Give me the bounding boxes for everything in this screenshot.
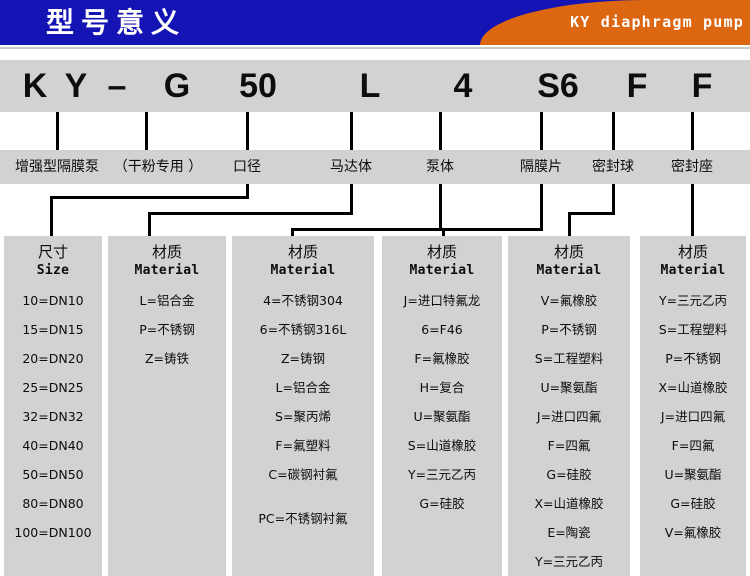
column-item: 100=DN100 <box>4 525 102 540</box>
column-item: P=不锈钢 <box>108 322 226 337</box>
column-item: U=聚氨酯 <box>508 380 630 395</box>
column-heading-cn: 材质 <box>508 243 630 262</box>
column-item: J=进口特氟龙 <box>382 293 502 308</box>
column-item: P=不锈钢 <box>508 322 630 337</box>
column-item: 20=DN20 <box>4 351 102 366</box>
column-heading-cn: 材质 <box>108 243 226 262</box>
column-item: J=进口四氟 <box>640 409 746 424</box>
column-heading-cn: 材质 <box>640 243 746 262</box>
model-part-label: 隔膜片 <box>520 150 562 184</box>
connector-vertical <box>691 184 694 236</box>
column-item-list: J=进口特氟龙6=F46F=氟橡胶H=复合U=聚氨酯S=山道橡胶Y=三元乙丙G=… <box>382 293 502 511</box>
model-code-token: S6 <box>537 62 579 110</box>
model-part-label: 密封球 <box>592 150 634 184</box>
column-item: S=聚丙烯 <box>232 409 374 424</box>
model-code-token: 4 <box>454 62 473 110</box>
column-item: S=山道橡胶 <box>382 438 502 453</box>
column-item: S=工程塑料 <box>508 351 630 366</box>
column-item: PC=不锈钢衬氟 <box>232 511 374 526</box>
header-divider <box>0 47 750 49</box>
model-part-label: 增强型隔膜泵 <box>15 150 99 184</box>
connector-vertical <box>439 184 442 231</box>
column-heading-en: Material <box>640 262 746 279</box>
connector-horizontal <box>291 228 442 231</box>
connector-vertical <box>145 112 148 150</box>
column-item: Z=铸钢 <box>232 351 374 366</box>
connector-vertical <box>612 112 615 150</box>
column-item: L=铝合金 <box>232 380 374 395</box>
detail-column-size: 尺寸Size10=DN1015=DN1520=DN2025=DN2532=DN3… <box>4 236 102 576</box>
connector-horizontal <box>442 228 543 231</box>
column-item: 25=DN25 <box>4 380 102 395</box>
column-item: Y=三元乙丙 <box>640 293 746 308</box>
page-header: 型号意义 KY diaphragm pump <box>0 0 750 45</box>
column-item: 6=F46 <box>382 322 502 337</box>
connector-vertical <box>691 112 694 150</box>
connector-vertical <box>56 112 59 150</box>
connector-vertical <box>568 212 571 236</box>
column-heading-en: Material <box>232 262 374 279</box>
column-heading-cn: 尺寸 <box>4 243 102 262</box>
column-item: 40=DN40 <box>4 438 102 453</box>
column-item: Y=三元乙丙 <box>508 554 630 569</box>
model-part-label-row: 增强型隔膜泵（干粉专用 ）口径马达体泵体隔膜片密封球密封座 <box>0 150 750 184</box>
page-title: 型号意义 <box>46 5 186 41</box>
column-item: 32=DN32 <box>4 409 102 424</box>
column-item: Z=铸铁 <box>108 351 226 366</box>
model-code-token: F <box>627 62 648 110</box>
column-item: F=四氟 <box>640 438 746 453</box>
connector-vertical <box>612 184 615 215</box>
column-item: J=进口四氟 <box>508 409 630 424</box>
detail-column-seal-ball-material: 材质MaterialV=氟橡胶P=不锈钢S=工程塑料U=聚氨酯J=进口四氟F=四… <box>508 236 630 576</box>
connector-vertical <box>50 196 53 236</box>
column-item-list: V=氟橡胶P=不锈钢S=工程塑料U=聚氨酯J=进口四氟F=四氟G=硅胶X=山道橡… <box>508 293 630 569</box>
column-item: X=山道橡胶 <box>640 380 746 395</box>
connector-horizontal <box>568 212 615 215</box>
model-code-token: – <box>108 62 127 110</box>
column-item: 10=DN10 <box>4 293 102 308</box>
connector-vertical <box>540 184 543 231</box>
column-item: P=不锈钢 <box>640 351 746 366</box>
detail-column-diaphragm-material: 材质MaterialJ=进口特氟龙6=F46F=氟橡胶H=复合U=聚氨酯S=山道… <box>382 236 502 576</box>
column-item-list: L=铝合金P=不锈钢Z=铸铁 <box>108 293 226 366</box>
detail-column-motor-material: 材质MaterialL=铝合金P=不锈钢Z=铸铁 <box>108 236 226 576</box>
connector-horizontal <box>50 196 249 199</box>
column-item: H=复合 <box>382 380 502 395</box>
column-item: F=四氟 <box>508 438 630 453</box>
column-item: X=山道橡胶 <box>508 496 630 511</box>
column-item: 80=DN80 <box>4 496 102 511</box>
column-heading-en: Material <box>508 262 630 279</box>
column-item: 50=DN50 <box>4 467 102 482</box>
model-part-label: 口径 <box>233 150 261 184</box>
model-code-token: 50 <box>239 62 277 110</box>
model-part-label: （干粉专用 ） <box>114 150 202 184</box>
column-heading-cn: 材质 <box>382 243 502 262</box>
column-item: S=工程塑料 <box>640 322 746 337</box>
model-part-label: 密封座 <box>671 150 713 184</box>
column-item: C=碳钢衬氟 <box>232 467 374 482</box>
column-item: 15=DN15 <box>4 322 102 337</box>
column-item: 6=不锈钢316L <box>232 322 374 337</box>
connector-vertical <box>442 228 445 236</box>
column-item: F=氟塑料 <box>232 438 374 453</box>
connector-vertical <box>246 112 249 150</box>
connector-vertical <box>148 212 151 236</box>
connector-horizontal <box>148 212 353 215</box>
column-item: U=聚氨酯 <box>382 409 502 424</box>
detail-column-pump-body-material: 材质Material4=不锈钢3046=不锈钢316LZ=铸钢L=铝合金S=聚丙… <box>232 236 374 576</box>
column-item-list: Y=三元乙丙S=工程塑料P=不锈钢X=山道橡胶J=进口四氟F=四氟U=聚氨酯G=… <box>640 293 746 540</box>
column-item: Y=三元乙丙 <box>382 467 502 482</box>
model-code-token: G <box>164 62 190 110</box>
detail-column-seal-seat-material: 材质MaterialY=三元乙丙S=工程塑料P=不锈钢X=山道橡胶J=进口四氟F… <box>640 236 746 576</box>
column-item: G=硅胶 <box>382 496 502 511</box>
column-item: E=陶瓷 <box>508 525 630 540</box>
model-part-label: 泵体 <box>426 150 454 184</box>
column-item: F=氟橡胶 <box>382 351 502 366</box>
model-code-token: K <box>23 62 48 110</box>
model-part-label: 马达体 <box>330 150 372 184</box>
column-heading-cn: 材质 <box>232 243 374 262</box>
connector-vertical <box>439 112 442 150</box>
column-heading-en: Size <box>4 262 102 279</box>
connector-vertical <box>350 112 353 150</box>
connector-vertical <box>540 112 543 150</box>
column-item-list: 4=不锈钢3046=不锈钢316LZ=铸钢L=铝合金S=聚丙烯F=氟塑料C=碳钢… <box>232 293 374 526</box>
column-heading-en: Material <box>108 262 226 279</box>
column-item: U=聚氨酯 <box>640 467 746 482</box>
model-code-row: KY–G50L4S6FF <box>0 60 750 112</box>
model-code-token: F <box>692 62 713 110</box>
connector-vertical <box>350 184 353 215</box>
column-item: V=氟橡胶 <box>640 525 746 540</box>
model-code-token: L <box>360 62 381 110</box>
column-item: L=铝合金 <box>108 293 226 308</box>
column-item: V=氟橡胶 <box>508 293 630 308</box>
column-item: 4=不锈钢304 <box>232 293 374 308</box>
column-heading-en: Material <box>382 262 502 279</box>
header-product-name: KY diaphragm pump <box>570 13 744 31</box>
column-item: G=硅胶 <box>508 467 630 482</box>
model-code-token: Y <box>65 62 88 110</box>
column-item: G=硅胶 <box>640 496 746 511</box>
connector-vertical <box>291 228 294 236</box>
column-item-list: 10=DN1015=DN1520=DN2025=DN2532=DN3240=DN… <box>4 293 102 540</box>
